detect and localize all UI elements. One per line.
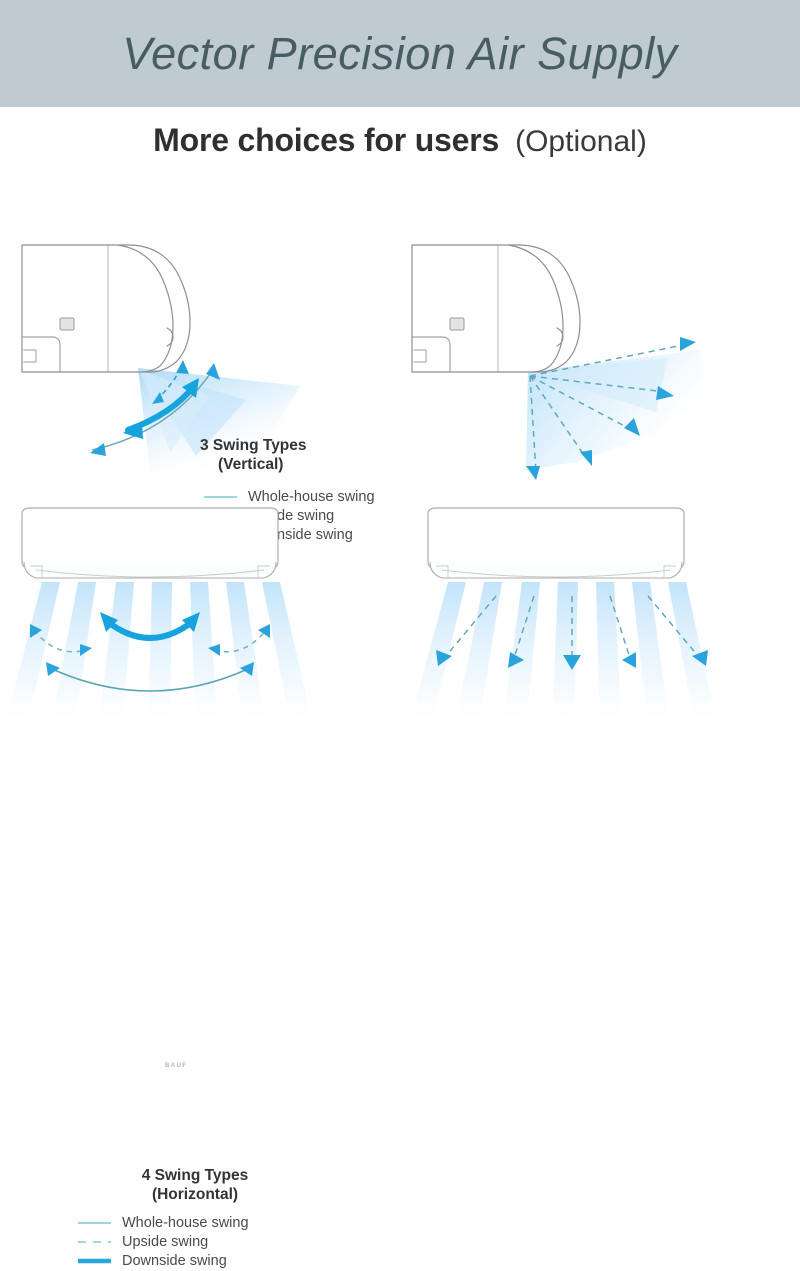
caption-line-2: (Horizontal) xyxy=(95,1185,295,1204)
solid-thick-line-icon xyxy=(78,1255,111,1267)
legend-label: Downside swing xyxy=(122,1253,227,1269)
legend-item: Upside swing xyxy=(78,1233,249,1251)
caption-4-swing-horizontal: 4 Swing Types (Horizontal) xyxy=(95,1166,295,1205)
subtitle-optional: (Optional) xyxy=(515,125,647,159)
header-banner: Vector Precision Air Supply xyxy=(0,0,800,107)
legend-label: Upside swing xyxy=(122,1234,208,1250)
legend-item: Downside swing xyxy=(78,1252,249,1270)
ac-unit-front-view xyxy=(22,508,278,578)
dashed-line-icon xyxy=(78,1236,111,1248)
subtitle-main: More choices for users xyxy=(153,122,499,159)
diagram-bl-svg xyxy=(0,500,400,790)
unit-brand-logo: BAUF xyxy=(165,1063,187,1069)
airflow-glow xyxy=(526,350,708,470)
airflow-glow xyxy=(408,582,718,730)
legend-item: Whole-house swing xyxy=(78,1214,249,1232)
legend-label: Whole-house swing xyxy=(122,1215,249,1231)
solid-thin-line-icon xyxy=(78,1217,111,1229)
airflow-glow xyxy=(4,582,314,730)
diagram-3-swing-vertical: 3 Swing Types (Vertical) Whole-house swi… xyxy=(0,200,400,500)
ac-unit-front-view xyxy=(428,508,684,578)
caption-line-1: 3 Swing Types xyxy=(196,436,396,455)
poster-canvas: Vector Precision Air Supply More choices… xyxy=(0,0,800,800)
diagram-br-svg xyxy=(400,500,800,790)
caption-3-swing-vertical: 3 Swing Types (Vertical) xyxy=(196,436,396,475)
diagram-5-blow-horizontal: BAUF 5 Blow Types (Horizontal) Fix direc… xyxy=(400,500,800,790)
diagram-5-swing-vertical: 5 Swing Types (Vertical) Upside swing xyxy=(400,200,800,500)
caption-line-1: 4 Swing Types xyxy=(95,1166,295,1185)
ac-unit-side-view xyxy=(22,245,190,372)
page-title: Vector Precision Air Supply xyxy=(122,28,677,80)
diagram-tr-svg xyxy=(400,200,800,500)
subtitle-row: More choices for users (Optional) xyxy=(0,122,800,159)
ac-unit-side-view xyxy=(412,245,580,372)
legend-4-swing-horizontal: Whole-house swing Upside swing Downside … xyxy=(78,1214,249,1271)
caption-line-2: (Vertical) xyxy=(196,455,396,474)
diagram-4-swing-horizontal: BAUF 4 Swing Types (Horizontal) Whole-ho… xyxy=(0,500,400,790)
